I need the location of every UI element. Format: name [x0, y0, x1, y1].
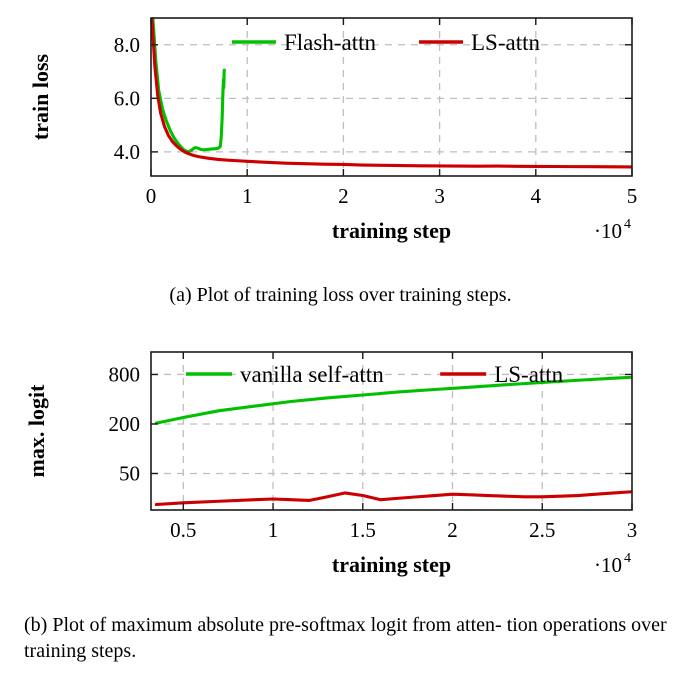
legend: vanilla self-attnLS-attn [186, 362, 564, 387]
x-tick-label: 0 [146, 184, 157, 208]
subfigure-b-plot: 502008000.511.522.53max. logittraining s… [0, 330, 681, 605]
subfigure-a-caption: (a) Plot of training loss over training … [0, 282, 681, 308]
multiplier-exponent: 4 [624, 551, 631, 566]
max-logit-chart: 502008000.511.522.53max. logittraining s… [0, 330, 681, 605]
x-axis-title: training step [332, 552, 451, 577]
y-tick-label: 8.0 [114, 33, 140, 57]
x-tick-label: 0.5 [170, 518, 196, 542]
x-tick-label: 3 [434, 184, 445, 208]
y-tick-label: 6.0 [114, 86, 140, 110]
x-axis-multiplier: ·104 [594, 551, 631, 577]
subfigure-a-plot: 4.06.08.0012345train losstraining step·1… [0, 0, 681, 275]
chart-a-content: 4.06.08.0012345train losstraining step·1… [28, 18, 637, 243]
chart-b-content: 502008000.511.522.53max. logittraining s… [24, 352, 637, 577]
x-tick-label: 2.5 [529, 518, 555, 542]
x-tick-label: 4 [531, 184, 542, 208]
y-tick-label: 4.0 [114, 140, 140, 164]
x-tick-label: 1 [242, 184, 253, 208]
y-tick-label: 800 [109, 362, 141, 386]
x-tick-label: 1 [268, 518, 279, 542]
legend: Flash-attnLS-attn [232, 30, 540, 55]
x-tick-label: 2 [338, 184, 349, 208]
x-axis-multiplier: ·104 [594, 217, 631, 243]
multiplier-base: ·10 [594, 219, 622, 243]
multiplier-exponent: 4 [624, 217, 631, 232]
x-tick-label: 2 [447, 518, 458, 542]
legend-label-ls-attn: LS-attn [494, 362, 563, 387]
y-axis-title: train loss [28, 53, 53, 140]
train-loss-chart: 4.06.08.0012345train losstraining step·1… [0, 0, 681, 275]
series-group [152, 19, 632, 167]
subfigure-b-caption: (b) Plot of maximum absolute pre-softmax… [0, 612, 681, 664]
x-axis-title: training step [332, 218, 451, 243]
legend-label-ls-attn: LS-attn [471, 30, 540, 55]
series-group [156, 377, 632, 504]
y-tick-label: 200 [109, 412, 141, 436]
caption-b-line1: (b) Plot of maximum absolute pre-softmax… [24, 614, 502, 636]
y-axis-title: max. logit [24, 384, 49, 478]
caption-a-text: (a) Plot of training loss over training … [169, 284, 511, 306]
y-tick-label: 50 [119, 462, 140, 486]
multiplier-base: ·10 [594, 553, 622, 577]
legend-label-vanilla-self-attn: vanilla self-attn [240, 362, 384, 387]
legend-label-flash-attn: Flash-attn [284, 30, 376, 55]
series-line-ls-attn [156, 492, 632, 505]
x-tick-label: 3 [627, 518, 638, 542]
series-line-flash-attn [153, 19, 224, 151]
x-tick-label: 1.5 [350, 518, 376, 542]
x-tick-label: 5 [627, 184, 638, 208]
